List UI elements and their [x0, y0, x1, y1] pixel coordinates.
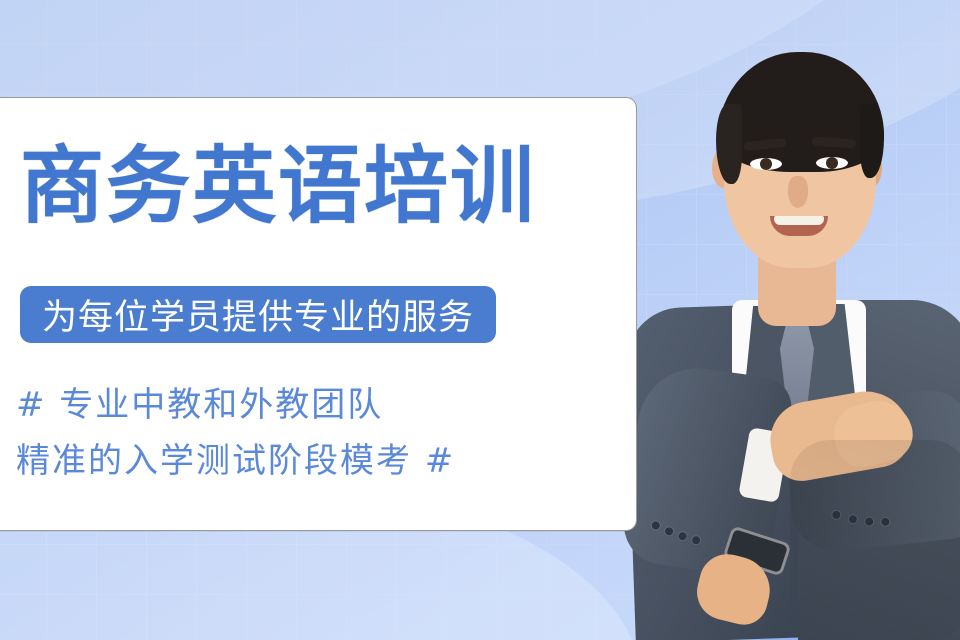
sleeve-button [651, 521, 660, 530]
businessman-photo [620, 0, 960, 640]
page-title: 商务英语培训 [20, 144, 536, 228]
subtitle-badge: 为每位学员提供专业的服务 [20, 286, 496, 343]
feature-list: # 专业中教和外教团队 精准的入学测试阶段模考 # [16, 378, 455, 491]
sleeve-button [665, 527, 674, 536]
feature-item-2: 精准的入学测试阶段模考 # [16, 434, 455, 488]
poster-canvas: 商务英语培训 为每位学员提供专业的服务 # 专业中教和外教团队 精准的入学测试阶… [0, 0, 960, 640]
eye-left [750, 158, 782, 170]
eye-right [816, 157, 848, 169]
subtitle-text: 为每位学员提供专业的服务 [42, 289, 474, 340]
sleeve-button [678, 532, 687, 541]
hair-sideburn-left [716, 104, 742, 184]
suit-shadow [790, 440, 960, 640]
teeth [774, 216, 824, 225]
sleeve-button [692, 536, 701, 545]
nose [788, 176, 808, 208]
feature-item-1: # 专业中教和外教团队 [16, 378, 455, 432]
